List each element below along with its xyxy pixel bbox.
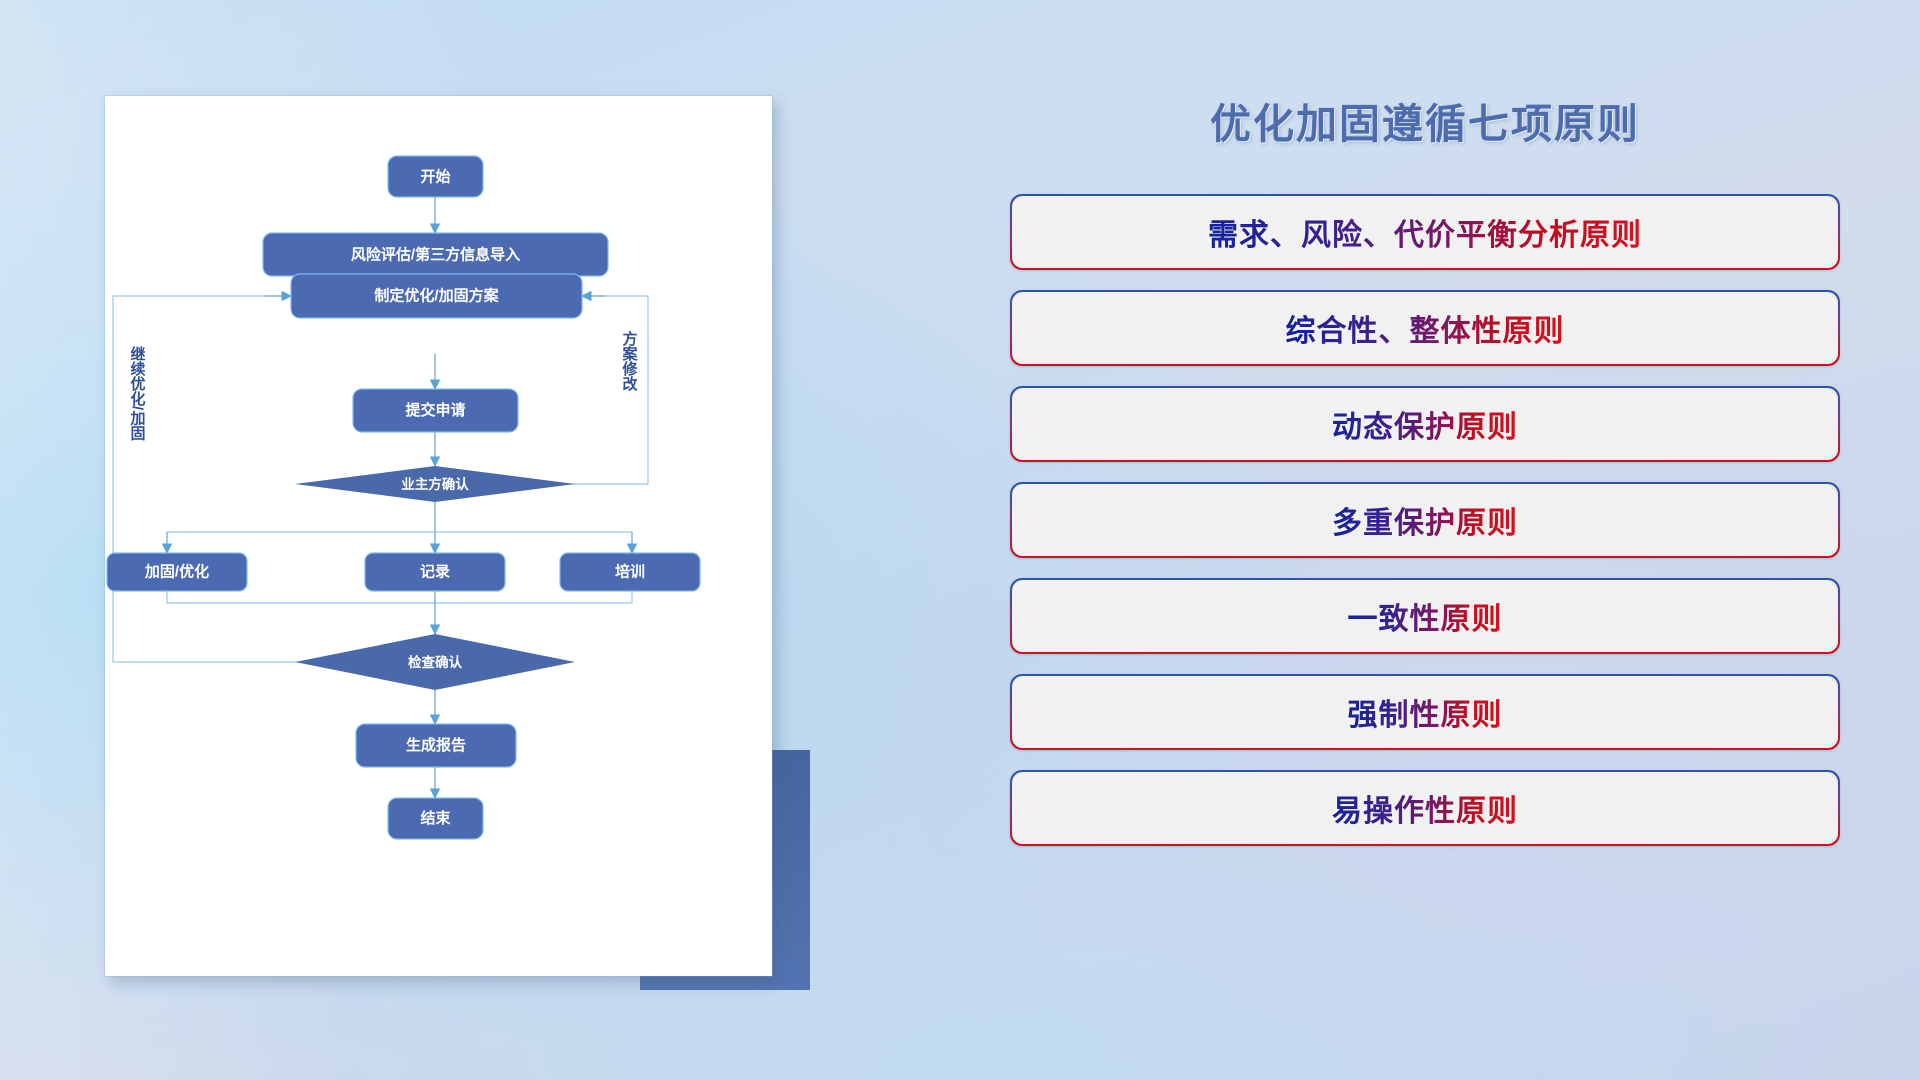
- flow-node-report[interactable]: 生成报告: [356, 724, 516, 767]
- principle-item-inner: 一致性原则: [1012, 580, 1839, 653]
- principle-item-inner: 多重保护原则: [1012, 484, 1839, 557]
- principle-item-label: 动态保护原则: [1332, 402, 1518, 446]
- flow-node-owner-confirm-label: 业主方确认: [401, 476, 469, 492]
- flowchart-svg: 继续优化/加固 方案修改 开始 风险评估/第三方信息导入 制定优化/加固方案: [105, 96, 772, 976]
- slide-background: 继续优化/加固 方案修改 开始 风险评估/第三方信息导入 制定优化/加固方案: [0, 0, 1920, 1080]
- principles-title: 优化加固遵循七项原则: [1010, 90, 1840, 150]
- flow-node-submit[interactable]: 提交申请: [353, 389, 518, 432]
- principle-item-inner: 强制性原则: [1012, 676, 1839, 749]
- flow-node-start-label: 开始: [420, 168, 450, 186]
- flow-node-plan[interactable]: 制定优化/加固方案: [291, 274, 582, 318]
- principle-item-inner: 综合性、整体性原则: [1012, 292, 1839, 365]
- flow-node-record[interactable]: 记录: [365, 553, 505, 591]
- flow-node-record-label: 记录: [420, 564, 450, 581]
- principle-item-label: 一致性原则: [1348, 594, 1503, 638]
- principle-item-label: 易操作性原则: [1332, 786, 1518, 830]
- edge-label-left-loop: 继续优化/加固: [129, 345, 147, 441]
- principle-item[interactable]: 需求、风险、代价平衡分析原则: [1010, 194, 1840, 270]
- principle-item-inner: 易操作性原则: [1012, 772, 1839, 845]
- principles-panel: 优化加固遵循七项原则 需求、风险、代价平衡分析原则 综合性、整体性原则 动态保护…: [1010, 90, 1840, 1020]
- flow-node-training[interactable]: 培训: [560, 553, 700, 591]
- flow-node-harden[interactable]: 加固/优化: [107, 553, 247, 591]
- flow-node-risk-assessment[interactable]: 风险评估/第三方信息导入: [263, 233, 608, 276]
- flow-node-end[interactable]: 结束: [388, 798, 483, 839]
- flow-node-harden-label: 加固/优化: [144, 563, 209, 581]
- flow-node-start[interactable]: 开始: [388, 156, 483, 197]
- principle-item[interactable]: 强制性原则: [1010, 674, 1840, 750]
- flowchart-card: 继续优化/加固 方案修改 开始 风险评估/第三方信息导入 制定优化/加固方案: [105, 96, 772, 976]
- flow-node-training-label: 培训: [615, 563, 645, 581]
- flow-node-plan-label: 制定优化/加固方案: [374, 287, 499, 305]
- principle-item-inner: 动态保护原则: [1012, 388, 1839, 461]
- principle-item[interactable]: 一致性原则: [1010, 578, 1840, 654]
- principle-item-label: 多重保护原则: [1332, 498, 1518, 542]
- principle-item[interactable]: 易操作性原则: [1010, 770, 1840, 846]
- flow-node-owner-confirm[interactable]: 业主方确认: [295, 466, 575, 502]
- flow-node-end-label: 结束: [420, 809, 451, 827]
- edge-merge-bus: [167, 591, 632, 603]
- principle-item[interactable]: 多重保护原则: [1010, 482, 1840, 558]
- flow-node-risk-assessment-label: 风险评估/第三方信息导入: [351, 246, 520, 264]
- flow-node-check-confirm[interactable]: 检查确认: [295, 634, 575, 690]
- edge-label-right-loop: 方案修改: [621, 330, 639, 392]
- principles-list: 需求、风险、代价平衡分析原则 综合性、整体性原则 动态保护原则 多重保护原则: [1010, 194, 1840, 846]
- flow-node-submit-label: 提交申请: [405, 401, 465, 419]
- principle-item[interactable]: 综合性、整体性原则: [1010, 290, 1840, 366]
- principle-item-label: 需求、风险、代价平衡分析原则: [1208, 210, 1642, 254]
- flow-node-check-confirm-label: 检查确认: [408, 654, 462, 670]
- flow-node-report-label: 生成报告: [406, 736, 466, 754]
- principle-item-label: 强制性原则: [1348, 690, 1503, 734]
- edge-left-loop: [113, 296, 371, 662]
- principle-item[interactable]: 动态保护原则: [1010, 386, 1840, 462]
- principle-item-label: 综合性、整体性原则: [1286, 306, 1565, 350]
- principle-item-inner: 需求、风险、代价平衡分析原则: [1012, 196, 1839, 269]
